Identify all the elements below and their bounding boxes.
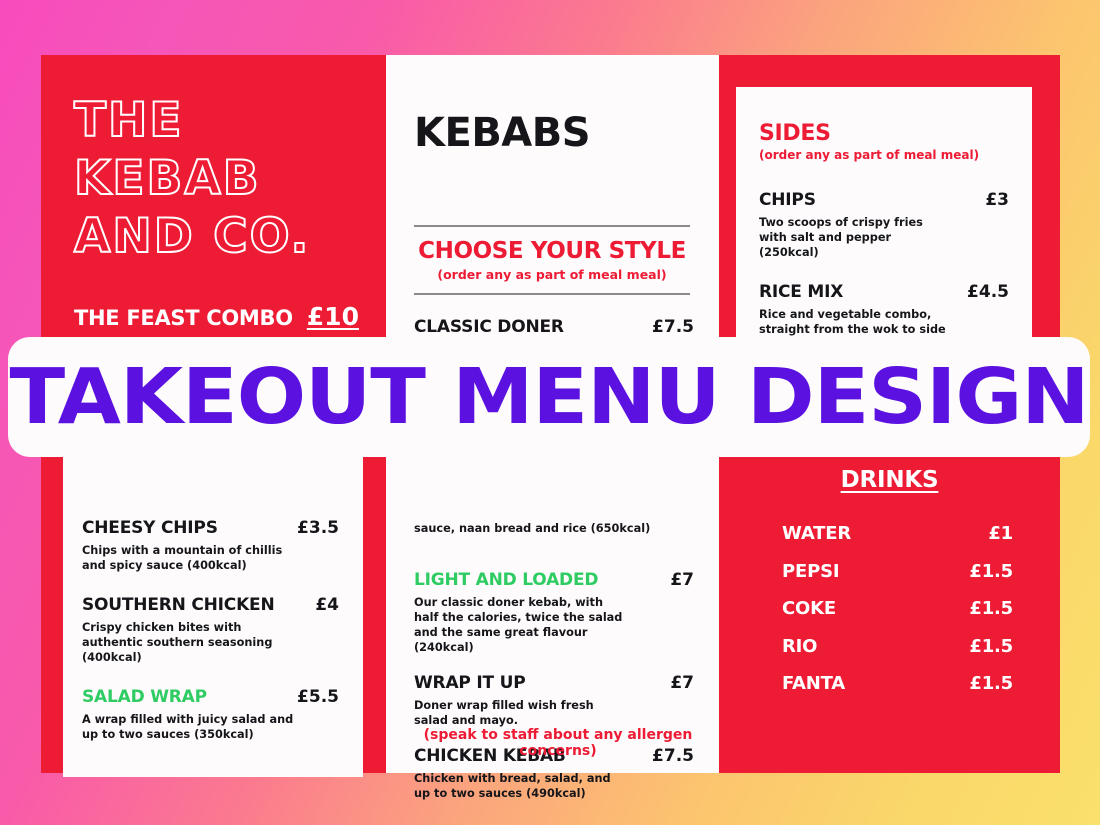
list-item[interactable]: LIGHT AND LOADED £7 Our classic doner ke… [414, 570, 694, 655]
more-sides-item-1-desc: Crispy chicken bites with authentic sout… [82, 620, 297, 665]
kebab-item-0-price: £7.5 [652, 317, 694, 337]
kebab-item-3-name: WRAP IT UP [414, 673, 525, 693]
allergen-note: (speak to staff about any allergen conce… [408, 727, 708, 759]
kebab-item-2-name: LIGHT AND LOADED [414, 570, 598, 590]
brand-title: THE KEBAB AND CO. [74, 92, 374, 266]
feast-combo-row: THE FEAST COMBO £10 [74, 302, 374, 331]
kebab-item-3-price: £7 [670, 673, 694, 693]
kebab-item-0-head: CLASSIC DONER £7.5 [414, 317, 694, 337]
drink-item-0-name: WATER [782, 523, 851, 544]
more-sides-item-1-name: SOUTHERN CHICKEN [82, 595, 275, 615]
kebab-item-2-head: LIGHT AND LOADED £7 [414, 570, 694, 590]
more-sides-item-0-price: £3.5 [297, 518, 339, 538]
divider-top [414, 225, 690, 227]
sides-list: CHIPS £3 Two scoops of crispy fries with… [759, 190, 1032, 352]
drinks-list: WATER £1 PEPSI £1.5 COKE £1.5 RIO £1.5 F… [719, 523, 1060, 694]
drink-item-4-price: £1.5 [969, 673, 1013, 694]
choose-style-subtitle: (order any as part of meal meal) [414, 267, 690, 282]
more-sides-item-2-head: SALAD WRAP £5.5 [82, 687, 363, 707]
drink-item-3-price: £1.5 [969, 636, 1013, 657]
feast-combo-title: THE FEAST COMBO [74, 306, 293, 330]
more-sides-item-1-head: SOUTHERN CHICKEN £4 [82, 595, 363, 615]
sides-card: SIDES (order any as part of meal meal) C… [736, 87, 1032, 340]
drink-item-4-name: FANTA [782, 673, 845, 694]
banner-label: TAKEOUT MENU DESIGN [9, 353, 1088, 442]
page-title: KEBABS [414, 110, 590, 156]
kebab-item-3-desc: Doner wrap filled wish fresh salad and m… [414, 698, 629, 728]
more-sides-item-2-desc: A wrap filled with juicy salad and up to… [82, 712, 297, 742]
kebab-item-2-desc: Our classic doner kebab, with half the c… [414, 595, 629, 655]
more-sides-item-2-price: £5.5 [297, 687, 339, 707]
kebab-item-0-name: CLASSIC DONER [414, 317, 564, 337]
more-sides-item-0-name: CHEESY CHIPS [82, 518, 218, 538]
sides-item-1-price: £4.5 [967, 282, 1009, 302]
drinks-section: DRINKS WATER £1 PEPSI £1.5 COKE £1.5 RIO… [719, 467, 1060, 711]
drink-item-1-name: PEPSI [782, 561, 839, 582]
sides-item-0-name: CHIPS [759, 190, 816, 210]
sides-item-0-head: CHIPS £3 [759, 190, 1032, 210]
divider-bottom [414, 293, 690, 295]
more-sides-card: CHEESY CHIPS £3.5 Chips with a mountain … [63, 440, 363, 777]
kebab-item-1-desc: sauce, naan bread and rice (650kcal) [414, 521, 674, 536]
drink-item-2-name: COKE [782, 598, 836, 619]
more-sides-item-1-price: £4 [315, 595, 339, 615]
list-item[interactable]: RIO £1.5 [782, 636, 1013, 657]
list-item[interactable]: PEPSI £1.5 [782, 561, 1013, 582]
list-item[interactable]: WATER £1 [782, 523, 1013, 544]
drinks-heading: DRINKS [719, 467, 1060, 493]
list-item[interactable]: CHEESY CHIPS £3.5 Chips with a mountain … [82, 518, 363, 573]
feast-combo-price: £10 [307, 302, 359, 331]
list-item[interactable]: SALAD WRAP £5.5 A wrap filled with juicy… [82, 687, 363, 742]
kebab-item-3-head: WRAP IT UP £7 [414, 673, 694, 693]
kebab-item-2-price: £7 [670, 570, 694, 590]
list-item[interactable]: COKE £1.5 [782, 598, 1013, 619]
more-sides-list: CHEESY CHIPS £3.5 Chips with a mountain … [63, 440, 363, 742]
choose-style-title: CHOOSE YOUR STYLE [414, 238, 690, 264]
list-item[interactable]: SOUTHERN CHICKEN £4 Crispy chicken bites… [82, 595, 363, 665]
sides-item-0-price: £3 [985, 190, 1009, 210]
sides-inner: SIDES (order any as part of meal meal) C… [736, 87, 1032, 352]
kebab-item-4-desc: Chicken with bread, salad, and up to two… [414, 771, 629, 801]
list-item[interactable]: CHIPS £3 Two scoops of crispy fries with… [759, 190, 1032, 260]
drink-item-3-name: RIO [782, 636, 817, 657]
takeout-menu-design-banner: TAKEOUT MENU DESIGN [8, 337, 1090, 457]
sides-item-1-name: RICE MIX [759, 282, 843, 302]
sides-item-1-head: RICE MIX £4.5 [759, 282, 1032, 302]
sides-heading: SIDES [759, 121, 1032, 146]
sides-subtitle: (order any as part of meal meal) [759, 148, 1032, 162]
more-sides-item-0-desc: Chips with a mountain of chillis and spi… [82, 543, 297, 573]
brand-title-line2: AND CO. [74, 208, 374, 266]
drink-item-0-price: £1 [988, 523, 1013, 544]
more-sides-item-2-name: SALAD WRAP [82, 687, 207, 707]
choose-your-style-block: CHOOSE YOUR STYLE (order any as part of … [414, 238, 690, 282]
drink-item-1-price: £1.5 [969, 561, 1013, 582]
sides-item-0-desc: Two scoops of crispy fries with salt and… [759, 215, 954, 260]
list-item[interactable]: FANTA £1.5 [782, 673, 1013, 694]
list-item[interactable]: WRAP IT UP £7 Doner wrap filled wish fre… [414, 673, 694, 728]
brand-title-line1: THE KEBAB [74, 92, 374, 208]
drink-item-2-price: £1.5 [969, 598, 1013, 619]
more-sides-item-0-head: CHEESY CHIPS £3.5 [82, 518, 363, 538]
